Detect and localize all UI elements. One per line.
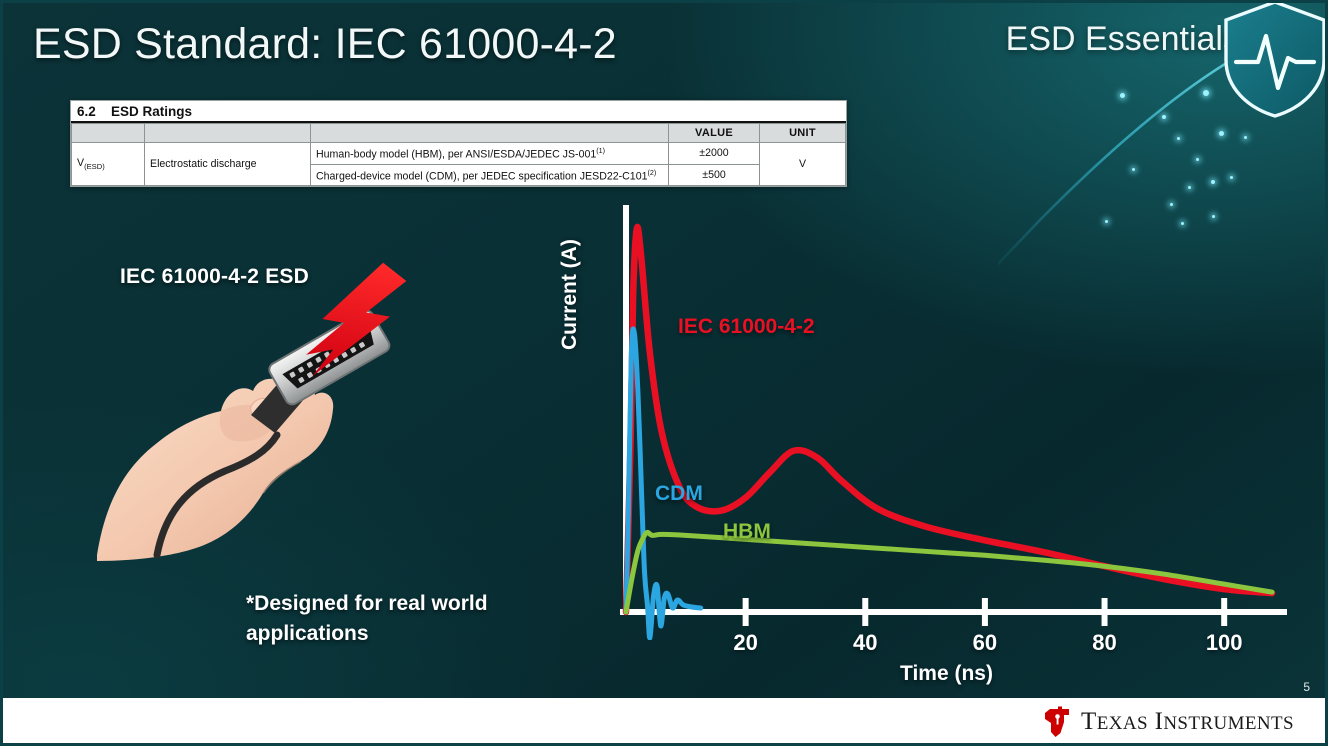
cell-symbol: V(ESD) [72, 143, 145, 186]
description-text: Charged-device model (CDM), per JEDEC sp… [316, 170, 647, 182]
spark-dot [1120, 93, 1125, 98]
footnote-marker: (1) [596, 146, 605, 155]
slide-footer: TEXAS INSTRUMENTS [0, 698, 1328, 746]
page-title: ESD Standard: IEC 61000-4-2 [33, 20, 617, 69]
spark-dot [1211, 180, 1215, 184]
spark-dot [1196, 158, 1199, 161]
symbol-subscript: (ESD) [84, 162, 105, 171]
x-tick-label: 40 [853, 630, 877, 656]
series-line-hbm [626, 532, 1272, 612]
section-title: ESD Ratings [111, 104, 192, 119]
x-tick-label: 100 [1206, 630, 1243, 656]
header-description [311, 124, 669, 143]
texas-instruments-logo-icon [1042, 706, 1072, 738]
table-header-row: VALUE UNIT [72, 124, 846, 143]
x-tick-label: 20 [733, 630, 757, 656]
header-unit: UNIT [760, 124, 846, 143]
description-text: Human-body model (HBM), per ANSI/ESDA/JE… [316, 149, 596, 161]
series-label-iec: IEC 61000-4-2 [678, 315, 815, 339]
texas-instruments-logo: TEXAS INSTRUMENTS [1042, 706, 1294, 738]
spark-dot [1177, 137, 1180, 140]
ti-word-i: I [1155, 708, 1164, 735]
chart-series-group [626, 227, 1272, 638]
cell-description: Human-body model (HBM), per ANSI/ESDA/JE… [311, 143, 669, 165]
spark-dot [1132, 168, 1135, 171]
footnote-marker: (2) [647, 168, 656, 177]
x-axis-label: Time (ns) [900, 662, 993, 686]
slide-canvas: ESD Standard: IEC 61000-4-2 ESD Essentia… [0, 0, 1328, 746]
hand-holding-hdmi-connector-icon [95, 255, 435, 565]
x-tick-label: 60 [973, 630, 997, 656]
ti-word-exas: EXAS [1097, 713, 1148, 734]
table-row: V(ESD) Electrostatic discharge Human-bod… [72, 143, 846, 165]
cell-value: ±500 [669, 164, 760, 186]
esd-ratings-table: 6.2ESD Ratings VALUE UNIT V(ESD) Electro… [70, 100, 847, 187]
header-value: VALUE [669, 124, 760, 143]
header-symbol [72, 124, 145, 143]
series-label-cdm: CDM [655, 482, 703, 506]
brand-label: ESD Essentials [1006, 20, 1240, 59]
shield-pulse-icon [1216, 0, 1328, 121]
spark-dot [1188, 186, 1191, 189]
spark-dot [1230, 176, 1233, 179]
y-axis-label: Current (A) [558, 239, 582, 350]
section-number: 6.2 [77, 104, 111, 119]
esd-waveform-chart: Current (A) IEC 61000-4-2 CDM HBM 204060… [560, 200, 1320, 690]
spark-dot [1244, 136, 1247, 139]
chart-plot-area [600, 200, 1300, 640]
cell-parameter: Electrostatic discharge [145, 143, 311, 186]
header-parameter [145, 124, 311, 143]
table-section-heading: 6.2ESD Ratings [71, 101, 846, 123]
spark-dot [1219, 131, 1224, 136]
spark-dot [1162, 115, 1166, 119]
spark-dot [1203, 90, 1209, 96]
cell-value: ±2000 [669, 143, 760, 165]
page-number: 5 [1303, 680, 1310, 694]
cell-unit: V [760, 143, 846, 186]
illustration-note: *Designed for real world applications [246, 589, 546, 650]
ti-word-t: T [1081, 708, 1097, 735]
cell-description: Charged-device model (CDM), per JEDEC sp… [311, 164, 669, 186]
series-label-hbm: HBM [723, 520, 771, 544]
texas-instruments-wordmark: TEXAS INSTRUMENTS [1081, 708, 1294, 736]
x-tick-label: 80 [1092, 630, 1116, 656]
ti-word-nstruments: NSTRUMENTS [1163, 713, 1294, 734]
